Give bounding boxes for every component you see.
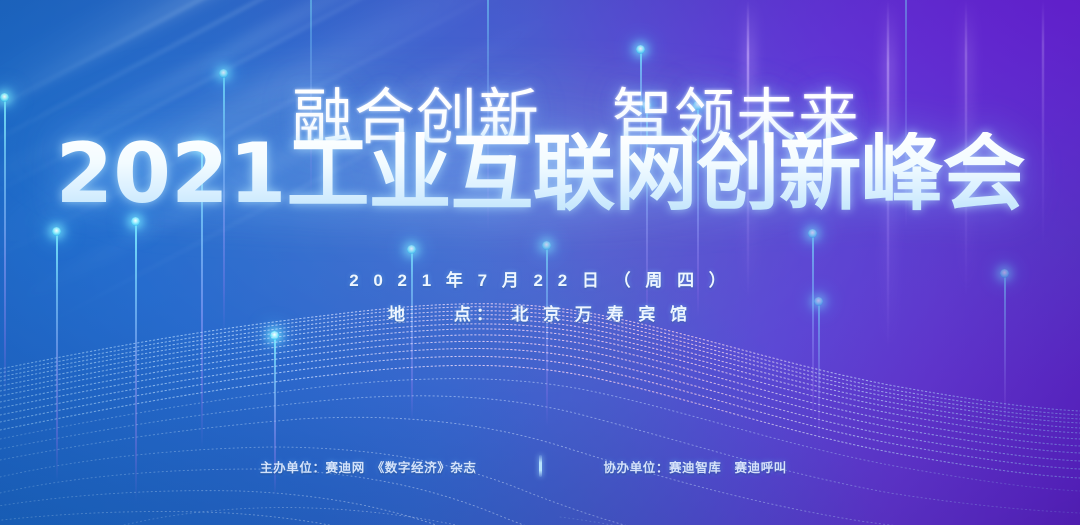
event-venue: 地 点： 北 京 万 寿 宾 馆 [0,300,1080,325]
event-banner: 融合创新智领未来 2021工业互联网创新峰会 2 0 2 1 年 7 月 2 2… [0,0,1080,525]
title-year: 2021 [55,125,286,222]
title-text: 工业互联网创新峰会 [287,127,1025,220]
credits-row: 主办单位：赛迪网 《数字经济》杂志 协办单位：赛迪智库 赛迪呼叫 [0,456,1080,476]
credits-divider [539,455,542,477]
co-organizer-credit: 协办单位：赛迪智库 赛迪呼叫 [604,457,979,476]
organizer-credit: 主办单位：赛迪网 《数字经济》杂志 [102,457,477,476]
page-title: 2021工业互联网创新峰会 [0,132,1080,215]
event-date: 2 0 2 1 年 7 月 2 2 日 （ 周 四 ） [0,266,1080,291]
